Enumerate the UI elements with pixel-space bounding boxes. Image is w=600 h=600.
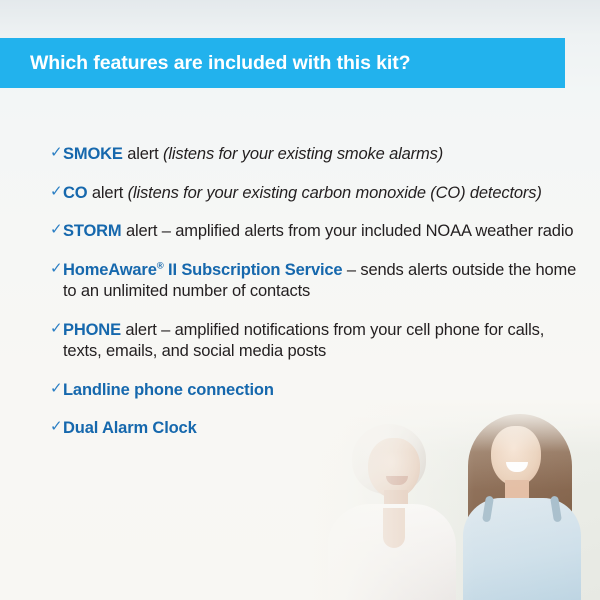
feature-description: alert – amplified alerts from your inclu…: [122, 222, 574, 240]
feature-list-item: ✓SMOKE alert (listens for your existing …: [50, 144, 585, 166]
feature-term: Landline phone connection: [63, 381, 274, 399]
photo-older-woman-neck: [384, 490, 408, 512]
registered-trademark-icon: ®: [157, 260, 164, 271]
checkmark-icon: ✓: [50, 184, 61, 198]
feature-term: Dual Alarm Clock: [63, 419, 197, 437]
feature-term: HomeAware® II Subscription Service: [63, 261, 342, 279]
checkmark-icon: ✓: [50, 381, 61, 395]
feature-list-item: ✓CO alert (listens for your existing car…: [50, 183, 585, 205]
page-title: Which features are included with this ki…: [0, 52, 410, 75]
photo-younger-woman-smile: [506, 462, 528, 472]
header-banner: Which features are included with this ki…: [0, 38, 565, 88]
feature-description-emphasis: (listens for your existing smoke alarms): [163, 145, 443, 163]
feature-term: PHONE: [63, 321, 121, 339]
feature-list-item: ✓PHONE alert – amplified notifications f…: [50, 320, 585, 363]
photo-older-woman-smile: [386, 476, 408, 485]
checkmark-icon: ✓: [50, 419, 61, 433]
photo-younger-woman-strap-right: [550, 496, 562, 523]
feature-term: STORM: [63, 222, 122, 240]
feature-description-emphasis: (listens for your existing carbon monoxi…: [128, 184, 542, 202]
feature-term: CO: [63, 184, 87, 202]
feature-description: alert – amplified notifications from you…: [63, 321, 544, 361]
checkmark-icon: ✓: [50, 222, 61, 236]
feature-list-item: ✓Dual Alarm Clock: [50, 418, 585, 440]
feature-description: alert: [87, 184, 127, 202]
feature-list-item: ✓HomeAware® II Subscription Service – se…: [50, 260, 585, 303]
photo-older-woman-neckline: [383, 508, 405, 548]
checkmark-icon: ✓: [50, 145, 61, 159]
feature-list-item: ✓STORM alert – amplified alerts from you…: [50, 221, 585, 243]
feature-description: alert: [123, 145, 163, 163]
checkmark-icon: ✓: [50, 321, 61, 335]
checkmark-icon: ✓: [50, 261, 61, 275]
photo-younger-woman-neck: [505, 480, 529, 506]
photo-younger-woman-strap-left: [482, 496, 494, 523]
photo-younger-woman-top: [463, 498, 581, 600]
feature-term: SMOKE: [63, 145, 123, 163]
promotional-feature-panel: Which features are included with this ki…: [0, 0, 600, 600]
feature-term-suffix: II Subscription Service: [164, 261, 343, 279]
feature-list: ✓SMOKE alert (listens for your existing …: [50, 144, 585, 457]
feature-list-item: ✓Landline phone connection: [50, 380, 585, 402]
photo-older-woman-blouse: [328, 504, 456, 600]
